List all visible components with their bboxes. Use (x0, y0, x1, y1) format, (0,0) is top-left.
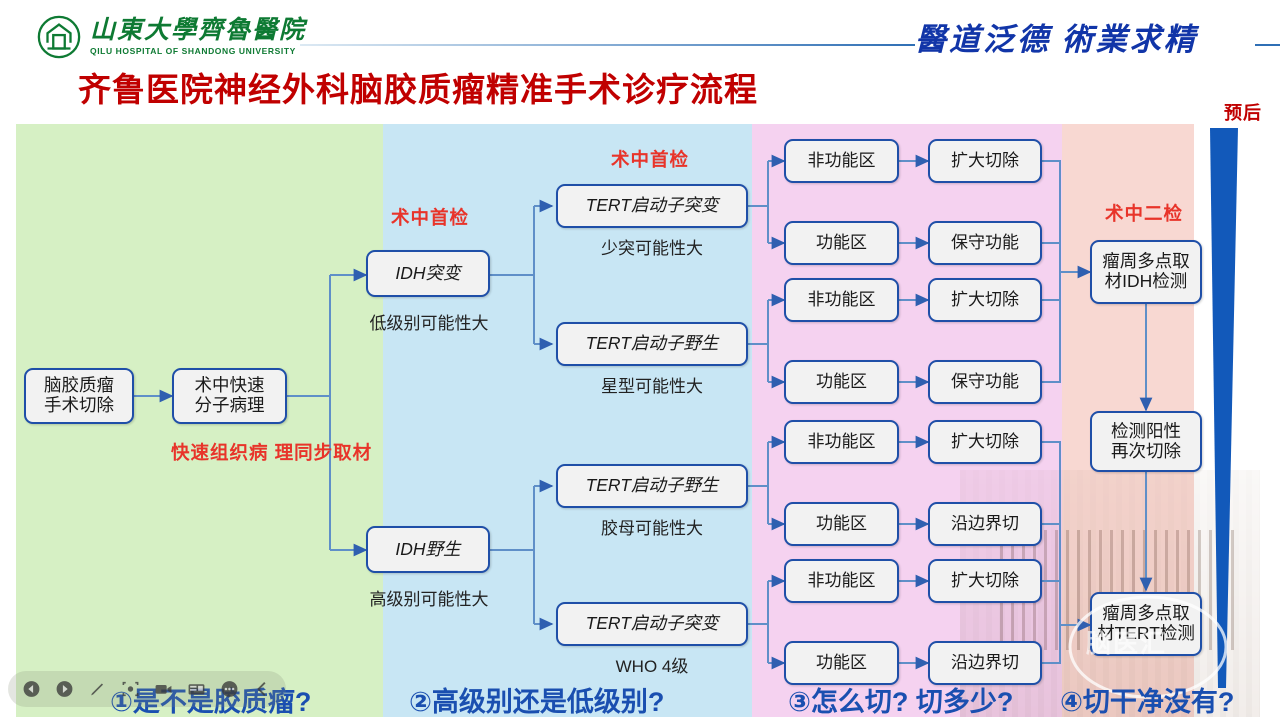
node-label: 功能区 (812, 233, 871, 252)
node-action-3[interactable]: 扩大切除 (928, 278, 1042, 322)
node-action-4[interactable]: 保守功能 (928, 360, 1042, 404)
node-label: 非功能区 (804, 571, 880, 590)
node-label: 瘤周多点取 材IDH检测 (1098, 252, 1194, 291)
logo-chinese-name: 山東大學齊魯醫院 (90, 18, 306, 44)
sublabel-oligodendroglioma-likely: 少突可能性大 (581, 234, 723, 259)
node-label: 检测阳性 再次切除 (1107, 422, 1185, 461)
caption-step-4: ④切干净没有? (1060, 680, 1234, 717)
node-label: TERT启动子野生 (582, 476, 723, 496)
label-first-intraop-check-lower: 术中首检 (604, 146, 696, 172)
node-label: 脑胶质瘤 手术切除 (40, 376, 118, 415)
node-idh-mutant[interactable]: IDH突变 (366, 250, 490, 297)
logo-english-name: QILU HOSPITAL OF SHANDONG UNIVERSITY (90, 46, 306, 56)
next-slide-icon[interactable] (55, 678, 74, 700)
node-tert-promoter-wildtype-1[interactable]: TERT启动子野生 (556, 322, 748, 366)
sublabel-low-grade-likely: 低级别可能性大 (359, 309, 499, 334)
node-action-5[interactable]: 扩大切除 (928, 420, 1042, 464)
node-zone-4[interactable]: 功能区 (784, 360, 899, 404)
prev-slide-icon[interactable] (22, 678, 41, 700)
node-label: 术中快速 分子病理 (191, 376, 269, 415)
node-label: IDH突变 (391, 264, 464, 284)
sublabel-astrocytoma-likely: 星型可能性大 (581, 372, 723, 397)
prognosis-label: 预后 (1224, 99, 1262, 125)
node-action-7[interactable]: 扩大切除 (928, 559, 1042, 603)
node-label: 功能区 (812, 653, 871, 672)
node-zone-3[interactable]: 非功能区 (784, 278, 899, 322)
node-peritumoral-idh-test[interactable]: 瘤周多点取 材IDH检测 (1090, 240, 1202, 304)
slide-grid-icon[interactable] (187, 678, 206, 700)
caption-step-3: ③怎么切? 切多少? (788, 680, 1013, 717)
node-zone-5[interactable]: 非功能区 (784, 420, 899, 464)
node-zone-1[interactable]: 非功能区 (784, 139, 899, 183)
more-options-icon[interactable] (220, 678, 239, 700)
prognosis-gradient-triangle (1208, 128, 1242, 688)
sublabel-glioblastoma-likely: 胶母可能性大 (581, 514, 723, 539)
page-title: 齐鲁医院神经外科脑胶质瘤精准手术诊疗流程 (78, 63, 758, 111)
back-icon[interactable] (253, 678, 272, 700)
caption-step-2: ②高级别还是低级别? (409, 680, 664, 717)
node-label: 沿边界切 (947, 514, 1023, 533)
node-label: TERT启动子突变 (582, 196, 723, 216)
node-idh-wildtype[interactable]: IDH野生 (366, 526, 490, 573)
node-tert-promoter-mutant-1[interactable]: TERT启动子突变 (556, 184, 748, 228)
header-rule-end (1255, 44, 1280, 46)
node-label: 非功能区 (804, 432, 880, 451)
hospital-logo: 山東大學齊魯醫院 QILU HOSPITAL OF SHANDONG UNIVE… (36, 14, 306, 60)
node-label: 功能区 (812, 372, 871, 391)
pen-icon[interactable] (88, 678, 107, 700)
node-label: 扩大切除 (947, 571, 1023, 590)
node-tert-promoter-wildtype-2[interactable]: TERT启动子野生 (556, 464, 748, 508)
label-first-intraop-check-upper: 术中首检 (386, 204, 474, 230)
node-label: 保守功能 (947, 233, 1023, 252)
label-rapid-tissue-pathology: 快速组织病 理同步取材 (171, 442, 289, 464)
node-action-6[interactable]: 沿边界切 (928, 502, 1042, 546)
node-positive-reresection[interactable]: 检测阳性 再次切除 (1090, 411, 1202, 472)
node-tert-promoter-mutant-2[interactable]: TERT启动子突变 (556, 602, 748, 646)
node-label: 扩大切除 (947, 290, 1023, 309)
node-label: TERT启动子野生 (582, 334, 723, 354)
brand-watermark-text: 脑医汇 (1086, 624, 1167, 660)
node-label: TERT启动子突变 (582, 614, 723, 634)
node-label: 扩大切除 (947, 432, 1023, 451)
slide-header: 山東大學齊魯醫院 QILU HOSPITAL OF SHANDONG UNIVE… (0, 0, 1280, 112)
header-rule (300, 44, 915, 46)
node-label: 非功能区 (804, 290, 880, 309)
node-action-8[interactable]: 沿边界切 (928, 641, 1042, 685)
node-action-2[interactable]: 保守功能 (928, 221, 1042, 265)
label-second-intraop-check: 术中二检 (1098, 200, 1190, 226)
presenter-toolbar[interactable] (8, 671, 286, 707)
node-zone-6[interactable]: 功能区 (784, 502, 899, 546)
sublabel-who-grade-4: WHO 4级 (581, 652, 723, 677)
slide-stage: 山東大學齊魯醫院 QILU HOSPITAL OF SHANDONG UNIVE… (0, 0, 1280, 717)
node-zone-8[interactable]: 功能区 (784, 641, 899, 685)
node-rapid-molecular-pathology[interactable]: 术中快速 分子病理 (172, 368, 287, 424)
node-label: 扩大切除 (947, 151, 1023, 170)
node-label: 保守功能 (947, 372, 1023, 391)
node-label: 非功能区 (804, 151, 880, 170)
node-label: IDH野生 (391, 540, 464, 560)
qilu-hospital-emblem-icon (36, 14, 82, 60)
hospital-motto: 醫道泛德 術業求精 (915, 14, 1198, 59)
node-zone-2[interactable]: 功能区 (784, 221, 899, 265)
camera-icon[interactable] (154, 678, 173, 700)
node-label: 沿边界切 (947, 653, 1023, 672)
node-zone-7[interactable]: 非功能区 (784, 559, 899, 603)
node-action-1[interactable]: 扩大切除 (928, 139, 1042, 183)
laser-pointer-icon[interactable] (121, 678, 140, 700)
node-surgical-resection[interactable]: 脑胶质瘤 手术切除 (24, 368, 134, 424)
node-label: 功能区 (812, 514, 871, 533)
sublabel-high-grade-likely: 高级别可能性大 (359, 585, 499, 610)
